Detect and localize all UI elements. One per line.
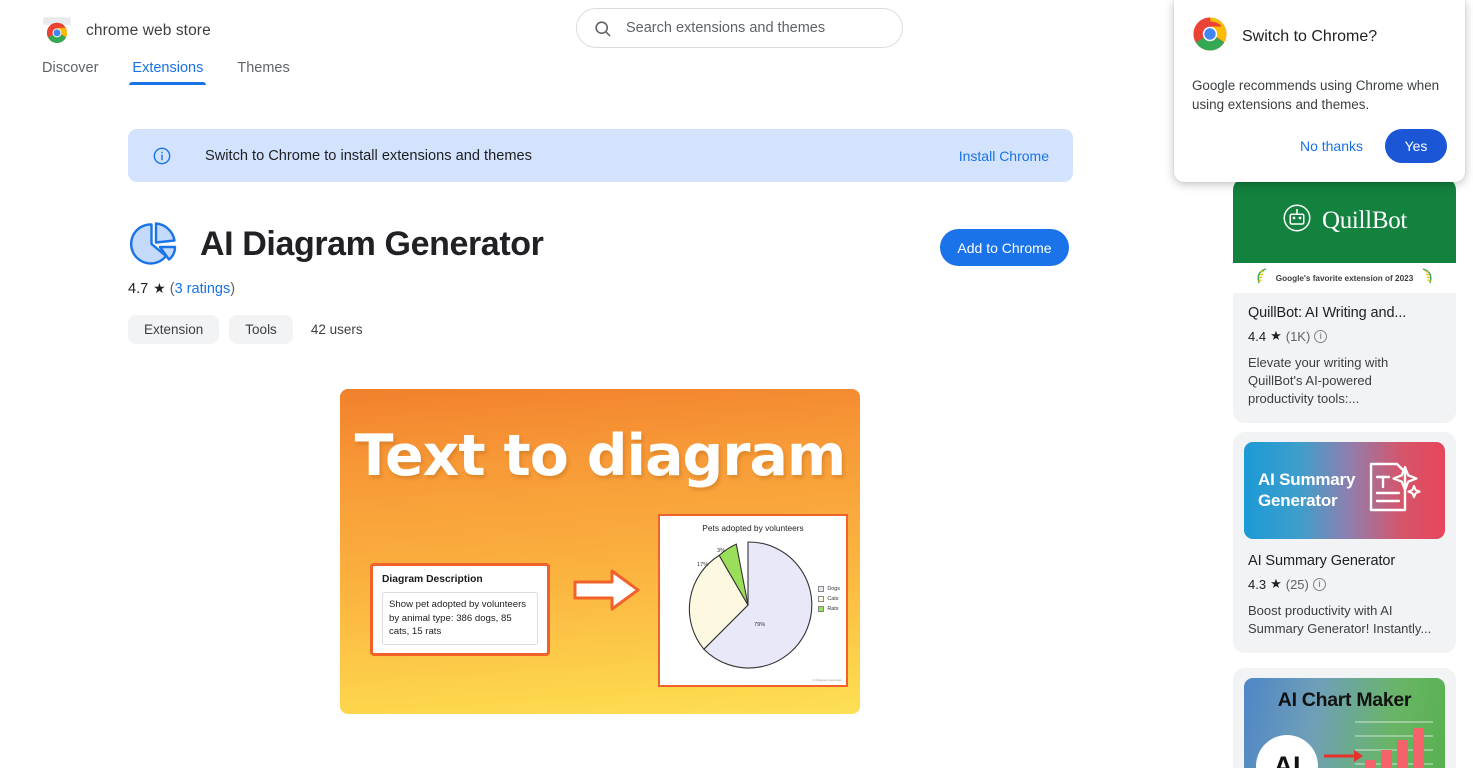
card-hero: QuillBot Google's favorite extension of … [1233, 178, 1456, 293]
banner-message: Switch to Chrome to install extensions a… [205, 148, 532, 164]
legend-item-rats: Rats [818, 604, 840, 614]
promo-headline: Text to diagram [340, 423, 860, 489]
meta-chips: Extension Tools 42 users [128, 315, 363, 344]
brand-name: chrome web store [86, 22, 211, 40]
tab-themes[interactable]: Themes [237, 60, 289, 85]
legend-item-cats: Cats [818, 594, 840, 604]
chart-credit: AI Diagram Generator [813, 679, 842, 682]
diagram-description-heading: Diagram Description [382, 574, 538, 585]
chrome-logo-icon [42, 16, 72, 46]
legend-item-dogs: Dogs [818, 584, 840, 594]
card-review-count: (1K) [1286, 329, 1311, 344]
ratings-link[interactable]: 3 ratings [175, 281, 231, 297]
info-icon[interactable]: i [1314, 330, 1327, 343]
legend-swatch-dogs [818, 586, 824, 592]
rating-value: 4.7 [128, 281, 148, 297]
pie-label-dogs: 79% [754, 622, 765, 628]
card-rating-value: 4.4 [1248, 329, 1266, 344]
star-icon: ★ [1270, 328, 1282, 344]
search-input[interactable]: Search extensions and themes [626, 20, 825, 36]
dialog-message: Google recommends using Chrome when usin… [1192, 76, 1447, 115]
user-count: 42 users [311, 322, 363, 337]
dialog-actions: No thanks Yes [1294, 129, 1447, 163]
award-badge-text: Google's favorite extension of 2023 [1276, 274, 1414, 283]
legend-swatch-cats [818, 596, 824, 602]
card-title: AI Summary Generator [1248, 553, 1441, 569]
page-title: AI Diagram Generator [200, 225, 543, 264]
star-icon: ★ [1270, 576, 1282, 592]
chartmaker-hero-title: AI Chart Maker [1244, 678, 1445, 712]
chart-title: Pets adopted by volunteers [660, 523, 846, 533]
diagram-description-text: Show pet adopted by volunteers by animal… [382, 592, 538, 645]
right-arrow-icon [572, 567, 642, 618]
no-thanks-button[interactable]: No thanks [1294, 130, 1369, 162]
switch-to-chrome-dialog: Switch to Chrome? Google recommends usin… [1174, 0, 1465, 182]
legend-label-cats: Cats [827, 594, 838, 604]
card-review-count: (25) [1286, 577, 1309, 592]
laurel-wreath-icon-right [1420, 267, 1434, 290]
card-body: AI Summary Generator 4.3 ★ (25) i Boost … [1233, 541, 1456, 653]
ai-badge: AI [1256, 735, 1318, 768]
legend-label-rats: Rats [827, 604, 838, 614]
legend-label-dogs: Dogs [827, 584, 840, 594]
yes-button[interactable]: Yes [1385, 129, 1447, 163]
award-badge: Google's favorite extension of 2023 [1233, 263, 1456, 293]
bar-chart-icon [1349, 716, 1435, 768]
info-icon [152, 146, 172, 166]
tab-extensions[interactable]: Extensions [132, 60, 203, 85]
quillbot-robot-icon [1282, 203, 1312, 238]
chartmaker-hero: AI Chart Maker AI [1244, 678, 1445, 768]
search-icon [593, 19, 612, 38]
summary-hero-label: AI Summary Generator [1258, 470, 1355, 510]
diagram-description-box: Diagram Description Show pet adopted by … [370, 563, 550, 656]
pie-chart-figure: Pets adopted by volunteers 79% 17% 3% Do… [658, 514, 848, 687]
chrome-logo-icon [1192, 16, 1228, 57]
list-item[interactable]: AI Chart Maker AI [1233, 668, 1456, 768]
summary-hero-line2: Generator [1258, 491, 1337, 510]
chip-extension[interactable]: Extension [128, 315, 219, 344]
install-chrome-banner: Switch to Chrome to install extensions a… [128, 129, 1073, 182]
install-chrome-link[interactable]: Install Chrome [959, 148, 1049, 164]
quillbot-hero: QuillBot [1233, 178, 1456, 263]
rating-row: 4.7 ★ (3 ratings) [128, 280, 235, 297]
add-to-chrome-button[interactable]: Add to Chrome [940, 229, 1069, 266]
info-icon[interactable]: i [1313, 578, 1326, 591]
paren-close: ) [230, 281, 235, 297]
pie-chart-icon [128, 218, 180, 270]
dialog-header: Switch to Chrome? [1192, 16, 1447, 57]
document-sparkle-icon [1363, 457, 1421, 524]
chart-legend: Dogs Cats Rats [818, 584, 840, 614]
search-bar[interactable]: Search extensions and themes [576, 8, 903, 48]
tab-discover[interactable]: Discover [42, 60, 98, 85]
card-rating: 4.3 ★ (25) i [1248, 576, 1441, 592]
pie-label-rats: 3% [717, 548, 725, 554]
dialog-title: Switch to Chrome? [1242, 28, 1377, 46]
card-body: QuillBot: AI Writing and... 4.4 ★ (1K) i… [1233, 293, 1456, 423]
promo-image[interactable]: Text to diagram Diagram Description Show… [340, 389, 860, 714]
star-icon: ★ [153, 280, 166, 297]
summary-hero: AI Summary Generator [1244, 442, 1445, 539]
laurel-wreath-icon [1255, 267, 1269, 290]
chrome-web-store-page: chrome web store Discover Extensions The… [0, 0, 1473, 768]
list-item[interactable]: AI Summary Generator AI Summ [1233, 432, 1456, 653]
rating-count: (3 ratings) [170, 281, 235, 297]
card-rating-value: 4.3 [1248, 577, 1266, 592]
list-item[interactable]: QuillBot Google's favorite extension of … [1233, 178, 1456, 423]
card-title: QuillBot: AI Writing and... [1248, 305, 1441, 321]
legend-swatch-rats [818, 606, 824, 612]
listing-title-row: AI Diagram Generator [128, 218, 543, 270]
quillbot-wordmark: QuillBot [1322, 207, 1407, 235]
brand-link[interactable]: chrome web store [42, 16, 211, 46]
nav-tabs: Discover Extensions Themes [42, 60, 290, 85]
chip-tools[interactable]: Tools [229, 315, 293, 344]
summary-hero-line1: AI Summary [1258, 470, 1355, 489]
card-rating: 4.4 ★ (1K) i [1248, 328, 1441, 344]
card-description: Boost productivity with AI Summary Gener… [1248, 602, 1441, 638]
pie-label-cats: 17% [697, 562, 708, 568]
card-description: Elevate your writing with QuillBot's AI-… [1248, 354, 1441, 408]
